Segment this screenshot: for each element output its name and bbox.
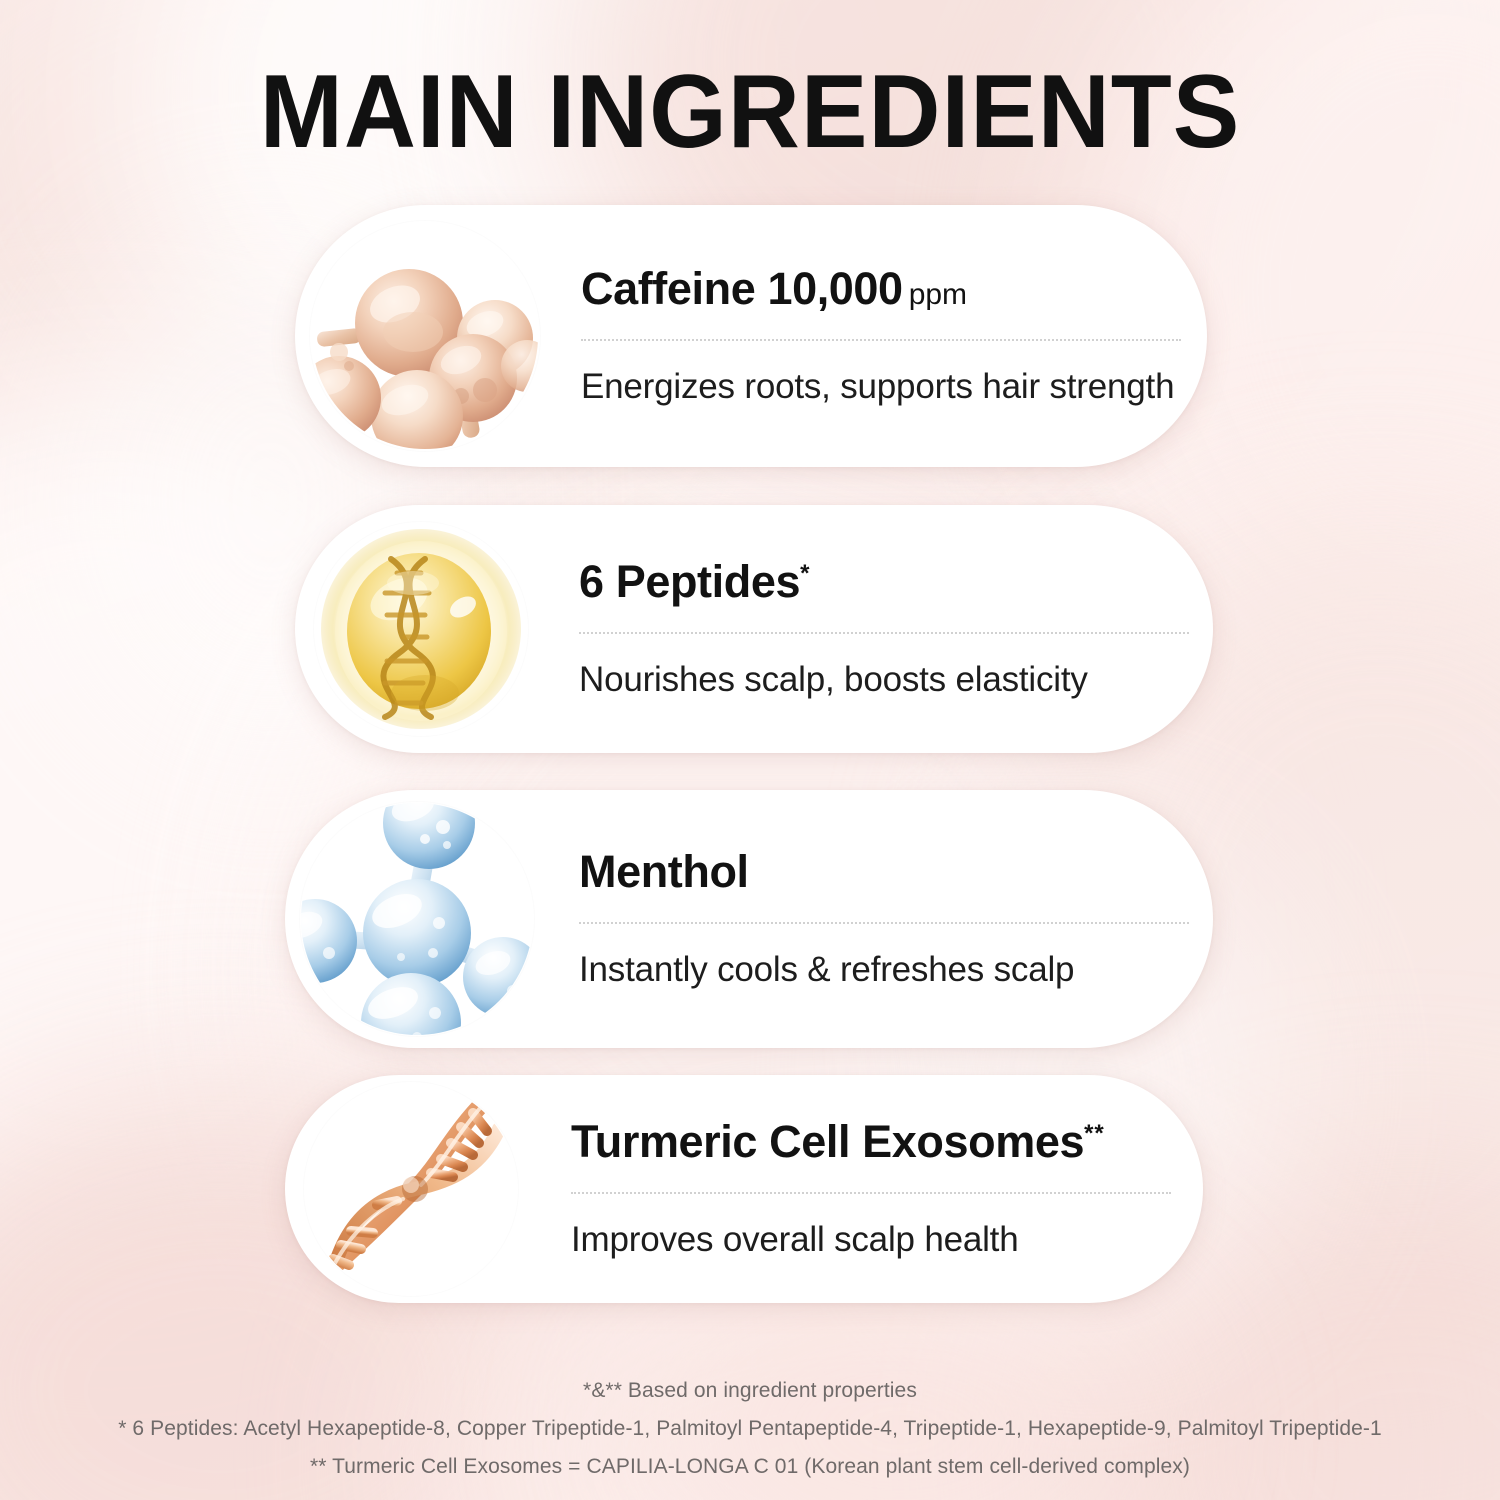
ingredient-unit: ppm [909,278,967,311]
divider [571,1192,1171,1194]
footnote-line-3: ** Turmeric Cell Exosomes = CAPILIA-LONG… [0,1448,1500,1486]
divider [581,339,1181,341]
ingredient-card-peptides: 6 Peptides* Nourishes scalp, boosts elas… [295,505,1213,753]
ingredient-card-caffeine: Caffeine 10,000ppm Energizes roots, supp… [295,205,1207,467]
ingredient-card-list: Caffeine 10,000ppm Energizes roots, supp… [0,0,1500,1500]
footnote-marker: * [800,560,810,587]
divider [579,922,1189,924]
ingredient-description: Improves overall scalp health [571,1220,1171,1260]
footnote-line-2: * 6 Peptides: Acetyl Hexapeptide-8, Copp… [0,1410,1500,1448]
card-body: 6 Peptides* Nourishes scalp, boosts elas… [529,558,1231,699]
caffeine-molecule-spheres-icon [309,220,541,452]
ingredient-description: Instantly cools & refreshes scalp [579,950,1189,990]
ingredient-name: Turmeric Cell Exosomes** [571,1118,1171,1165]
turmeric-dna-helix-icon [303,1081,519,1297]
peptide-droplet-dna-icon [313,521,529,737]
card-body: Menthol Instantly cools & refreshes scal… [535,848,1231,989]
footnote-line-1: *&** Based on ingredient properties [0,1372,1500,1410]
ingredient-name: Menthol [579,848,1189,895]
card-body: Turmeric Cell Exosomes** Improves overal… [519,1118,1213,1259]
footnote-marker: ** [1084,1120,1105,1147]
menthol-water-molecule-icon [299,801,535,1037]
ingredient-description: Nourishes scalp, boosts elasticity [579,660,1189,700]
ingredient-card-menthol: Menthol Instantly cools & refreshes scal… [285,790,1213,1048]
ingredient-card-turmeric-exosomes: Turmeric Cell Exosomes** Improves overal… [285,1075,1203,1303]
footnotes: *&** Based on ingredient properties * 6 … [0,1372,1500,1486]
ingredients-infographic: MAIN INGREDIENTS [0,0,1500,1500]
card-body: Caffeine 10,000ppm Energizes roots, supp… [541,265,1223,406]
ingredient-name: 6 Peptides* [579,558,1189,605]
ingredient-description: Energizes roots, supports hair strength [581,367,1181,407]
ingredient-name: Caffeine 10,000ppm [581,265,1181,312]
divider [579,632,1189,634]
